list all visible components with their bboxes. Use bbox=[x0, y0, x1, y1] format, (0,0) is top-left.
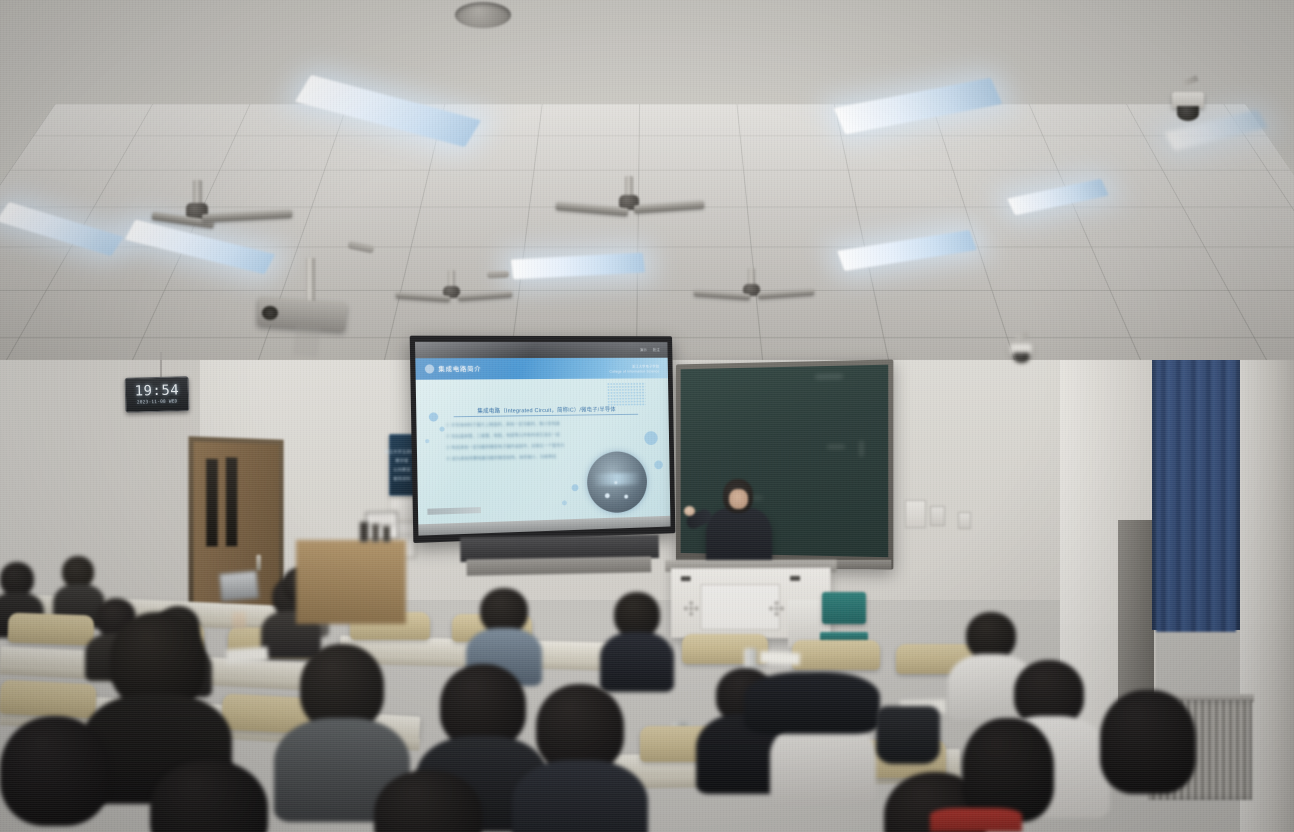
student-head bbox=[374, 770, 482, 832]
side-cabinet bbox=[296, 540, 406, 624]
clock-date: 2023-11-08 WED bbox=[137, 400, 178, 406]
notice-text-line bbox=[370, 520, 394, 522]
slide-bullet: ④ 成为具有所需电路功能的微型结构，体积缩小、功耗降低 bbox=[446, 453, 596, 462]
slide-dot-decoration bbox=[425, 439, 429, 443]
student bbox=[962, 718, 1054, 822]
podium-latch[interactable] bbox=[790, 576, 800, 581]
slide-chip-highlight bbox=[614, 481, 617, 484]
lecturer-face bbox=[729, 489, 748, 509]
slide-dot-decoration bbox=[429, 412, 438, 421]
chalk-smudge bbox=[859, 441, 863, 457]
chalk-smudge bbox=[827, 445, 845, 449]
wall-sign-line-2: 教学楼 bbox=[395, 458, 408, 464]
suspended-ceiling bbox=[0, 104, 1294, 360]
paper-sheet bbox=[760, 651, 801, 665]
slide-bullet: ① 半导体材料于基片上制造的、具有一定功能的、微小型电路 bbox=[446, 420, 596, 428]
slide-dot-decoration bbox=[654, 460, 663, 469]
student bbox=[0, 716, 110, 826]
lecture-seat[interactable] bbox=[0, 680, 97, 719]
student bbox=[374, 770, 482, 832]
podium-vent-icon bbox=[683, 600, 700, 617]
slide-chip-highlight bbox=[605, 493, 610, 498]
slide-dot-decoration bbox=[439, 427, 444, 432]
red-garment bbox=[930, 808, 1022, 832]
cabinet-item bbox=[383, 526, 390, 542]
notice-text-line bbox=[370, 516, 394, 518]
slide-dot-decoration bbox=[644, 431, 658, 445]
student bbox=[536, 684, 648, 832]
door-handle[interactable] bbox=[256, 555, 261, 571]
slide-dot-decoration bbox=[607, 382, 646, 406]
cabinet-item bbox=[360, 522, 368, 542]
chalk-smudge bbox=[815, 374, 843, 380]
clock-time: 19:54 bbox=[134, 383, 179, 398]
lecturer-hand bbox=[684, 506, 695, 516]
ceiling-shading bbox=[0, 104, 1294, 360]
slide-bullet: ③ 构成具有一定功能的微型电子器件或部件，封装在一个管壳内 bbox=[446, 442, 596, 451]
door-glass-panel bbox=[206, 458, 219, 547]
student-head bbox=[536, 684, 624, 772]
slide-bullet: ② 包括晶体管、二极管、电阻、电容等元件和布线互连在一起 bbox=[446, 431, 596, 440]
student-body bbox=[600, 632, 674, 692]
student-head bbox=[0, 716, 110, 826]
cabinet-item bbox=[372, 524, 379, 542]
slide-bullet-list: ① 半导体材料于基片上制造的、具有一定功能的、微小型电路 ② 包括晶体管、二极管… bbox=[446, 420, 597, 462]
dome-camera-icon bbox=[1177, 106, 1199, 121]
side-posted-notice bbox=[366, 511, 399, 540]
slide-dot-decoration bbox=[572, 484, 579, 491]
wall-switch-plate[interactable] bbox=[930, 506, 945, 526]
projection-screen: 演示 批注 集成电路简介 浙江大学电子学院 College of Informa… bbox=[410, 336, 676, 543]
projected-slide: 演示 批注 集成电路简介 浙江大学电子学院 College of Informa… bbox=[415, 342, 670, 525]
draped-jacket bbox=[744, 672, 880, 734]
lecture-seat[interactable] bbox=[792, 640, 880, 670]
student bbox=[1100, 690, 1196, 794]
student-head bbox=[150, 760, 268, 832]
student-head bbox=[966, 612, 1016, 660]
wall-sign-line-4: 使用须知 bbox=[393, 476, 411, 482]
student-head bbox=[0, 562, 34, 596]
slide-header-band: 集成电路简介 浙江大学电子学院 College of Information S… bbox=[415, 358, 668, 380]
slide-brand-line-2: College of Information Science bbox=[609, 369, 659, 373]
student-head bbox=[962, 718, 1054, 822]
lecture-seat[interactable] bbox=[8, 613, 95, 646]
presentation-toolbar: 演示 批注 bbox=[415, 342, 668, 358]
student bbox=[150, 760, 268, 832]
slide-brand-block: 浙江大学电子学院 College of Information Science bbox=[609, 363, 659, 373]
classroom-photo: 19:54 2023-11-08 WED 浙江大学玉泉校区 教学楼 公共教室 使… bbox=[0, 0, 1294, 832]
folding-chair-back[interactable] bbox=[822, 592, 866, 624]
slide-body: 集成电路（Integrated Circuit，简称IC）/微电子/半导体 ① … bbox=[416, 378, 671, 524]
slide-dot-decoration bbox=[562, 500, 567, 505]
slide-header-bullet-icon bbox=[425, 364, 435, 373]
slide-heading: 集成电路（Integrated Circuit，简称IC）/微电子/半导体 bbox=[453, 405, 638, 417]
slide-chip-highlight bbox=[624, 495, 628, 499]
wall-sign-line-3: 公共教室 bbox=[393, 467, 411, 473]
slide-footer-bar bbox=[427, 507, 481, 515]
slide-chip-glow bbox=[593, 473, 641, 486]
podium-vent-icon bbox=[768, 600, 785, 617]
student-head bbox=[1100, 690, 1196, 794]
toolbar-item-present[interactable]: 演示 bbox=[640, 347, 647, 352]
podium-latch[interactable] bbox=[681, 576, 691, 581]
slide-chip-image bbox=[587, 451, 648, 514]
backpack bbox=[876, 706, 940, 764]
ceiling-speaker-icon bbox=[487, 271, 509, 279]
digital-wall-clock: 19:54 2023-11-08 WED bbox=[125, 376, 190, 413]
ceiling-vent-icon bbox=[455, 2, 511, 28]
wall-switch-plate[interactable] bbox=[905, 500, 926, 528]
projector-lens-icon bbox=[262, 306, 278, 320]
clock-power-cable bbox=[160, 352, 162, 378]
student bbox=[614, 592, 674, 692]
camera-arm bbox=[1181, 75, 1198, 87]
toolbar-item-annotate[interactable]: 批注 bbox=[653, 348, 660, 353]
student-body bbox=[512, 760, 648, 832]
dome-camera-icon bbox=[1014, 353, 1029, 363]
wall-outlet-plate[interactable] bbox=[958, 512, 971, 529]
door-glass-panel bbox=[225, 457, 238, 547]
laptop[interactable] bbox=[219, 570, 259, 601]
projector-cables bbox=[294, 325, 319, 357]
cup[interactable] bbox=[232, 612, 246, 628]
slide-title: 集成电路简介 bbox=[438, 364, 481, 373]
slide-brand-line-1: 浙江大学电子学院 bbox=[632, 363, 659, 368]
